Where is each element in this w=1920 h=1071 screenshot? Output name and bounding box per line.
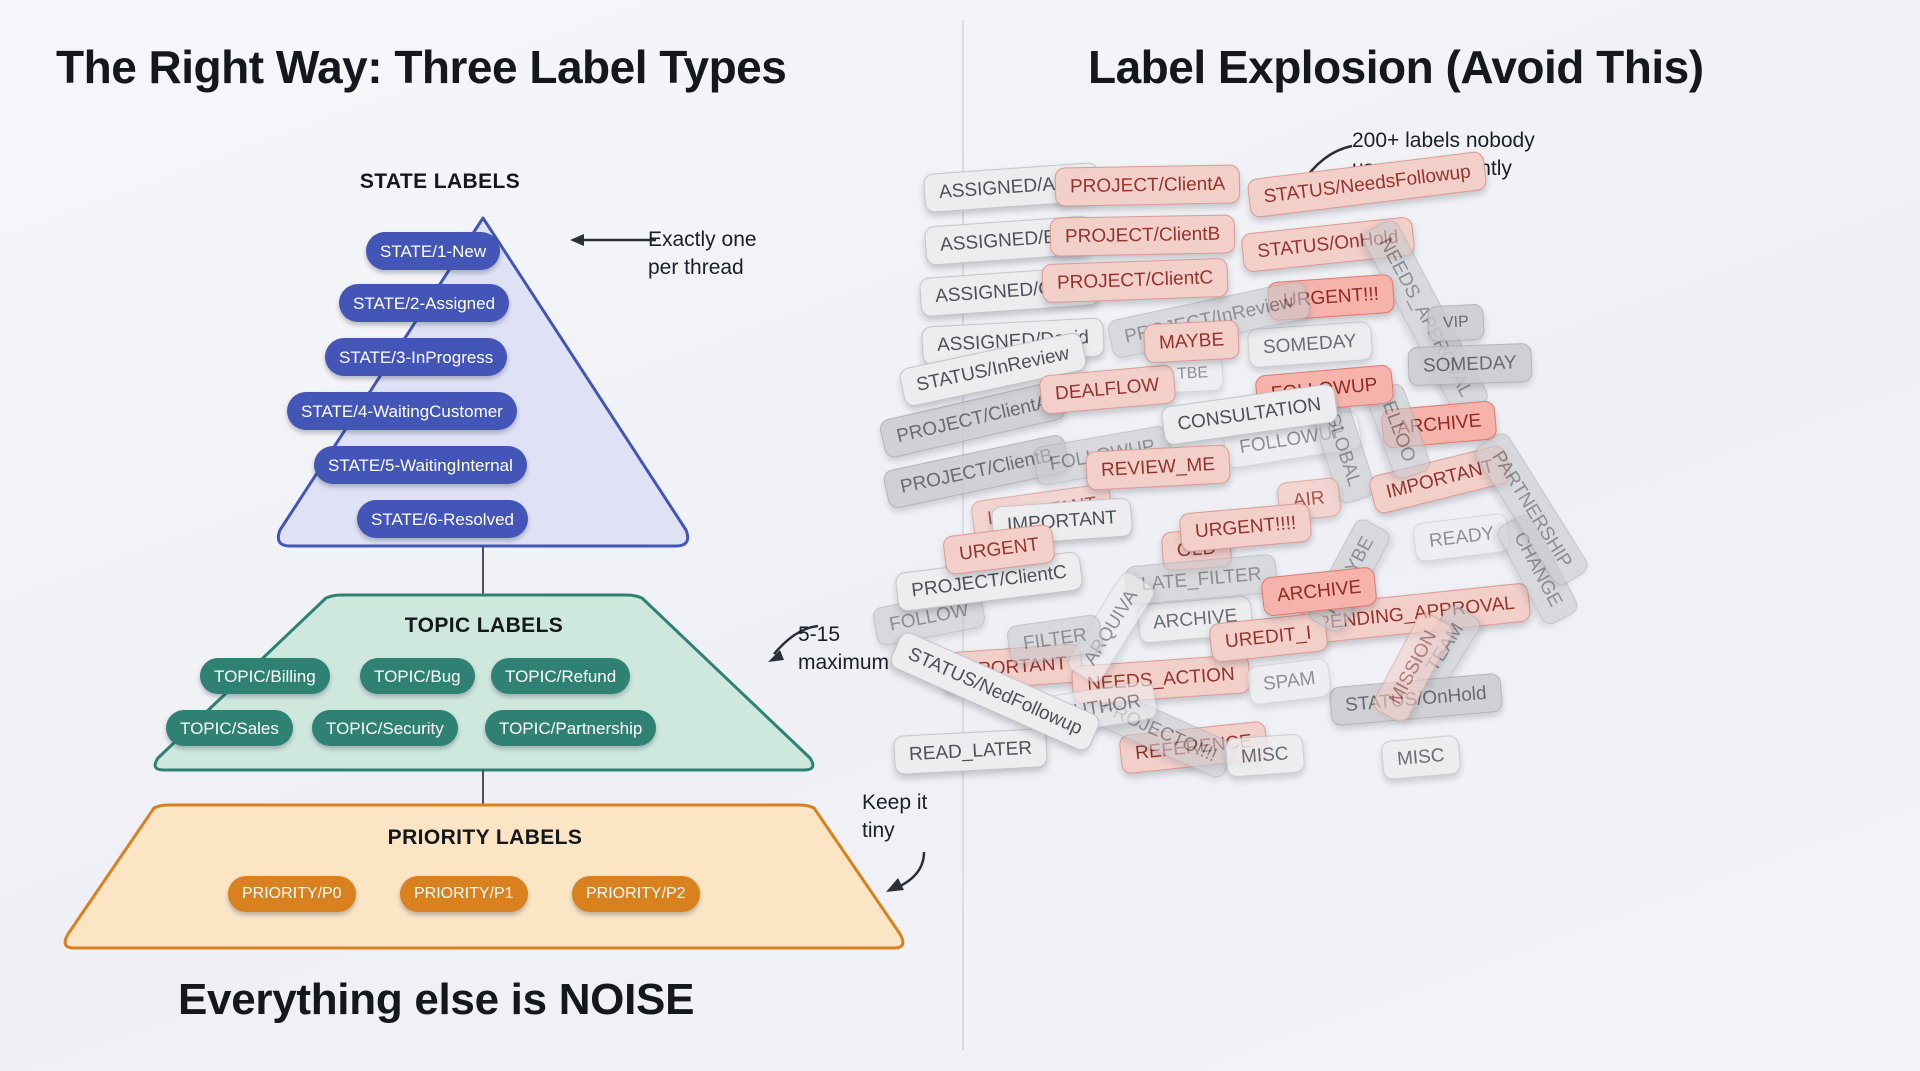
topic-pill-bug[interactable]: TOPIC/Bug: [360, 658, 475, 694]
priority-pill-p2[interactable]: PRIORITY/P2: [572, 876, 700, 912]
chaos-label[interactable]: PROJECT/ClientB: [1050, 214, 1236, 256]
chaos-label[interactable]: STATUS/NeedsFollowup: [1247, 151, 1488, 219]
state-labels-caption: STATE LABELS: [310, 170, 570, 194]
left-panel-footer: Everything else is NOISE: [178, 975, 694, 1025]
chaos-label[interactable]: VIP: [1427, 304, 1485, 343]
left-panel-title: The Right Way: Three Label Types: [56, 40, 786, 94]
priority-annotation-line1: Keep it: [862, 790, 927, 816]
priority-annotation-arrow: [874, 848, 934, 896]
state-annotation-arrow: [568, 228, 658, 252]
state-annotation-line1: Exactly one: [648, 227, 757, 253]
topic-labels-caption: TOPIC LABELS: [364, 614, 604, 638]
chaos-label[interactable]: SPAM: [1246, 657, 1333, 706]
topic-annotation-line2: maximum: [798, 650, 889, 676]
priority-pill-p1[interactable]: PRIORITY/P1: [400, 876, 528, 912]
label-explosion-cluster: ASSIGNED/AliceASSIGNED/BobASSIGNED/Carol…: [962, 0, 1920, 1071]
left-panel: The Right Way: Three Label Types STATE L…: [0, 0, 962, 1071]
chaos-label[interactable]: URGENT!!!!: [1179, 502, 1313, 552]
state-pill-4[interactable]: STATE/4-WaitingCustomer: [287, 392, 517, 430]
state-tier: STATE/1-New STATE/2-Assigned STATE/3-InP…: [262, 212, 704, 552]
state-pill-2[interactable]: STATE/2-Assigned: [339, 284, 509, 322]
priority-pill-p0[interactable]: PRIORITY/P0: [228, 876, 356, 912]
topic-pill-refund[interactable]: TOPIC/Refund: [491, 658, 630, 694]
chaos-label[interactable]: REVIEW_ME: [1085, 444, 1231, 490]
chaos-label[interactable]: SOMEDAY: [1247, 321, 1373, 369]
chaos-label[interactable]: PROJECT/ClientC: [1041, 258, 1228, 303]
chaos-label[interactable]: MAYBE: [1143, 320, 1240, 364]
chaos-label[interactable]: PROJECT/ClientA: [1055, 164, 1241, 206]
topic-pill-security[interactable]: TOPIC/Security: [312, 710, 458, 746]
topic-pill-partnership[interactable]: TOPIC/Partnership: [485, 710, 656, 746]
state-pill-6[interactable]: STATE/6-Resolved: [357, 500, 528, 538]
priority-labels-caption: PRIORITY LABELS: [365, 826, 605, 850]
priority-tier: PRIORITY LABELS PRIORITY/P0 PRIORITY/P1 …: [60, 802, 908, 954]
priority-annotation-line2: tiny: [862, 818, 895, 844]
chaos-label[interactable]: READ_LATER: [893, 728, 1048, 775]
state-pill-3[interactable]: STATE/3-InProgress: [325, 338, 507, 376]
diagram-canvas: The Right Way: Three Label Types STATE L…: [0, 0, 1920, 1071]
topic-annotation-line1: 5-15: [798, 622, 840, 648]
chaos-label[interactable]: READY: [1412, 512, 1512, 562]
topic-tier: TOPIC LABELS TOPIC/Billing TOPIC/Bug TOP…: [150, 592, 818, 776]
state-pill-1[interactable]: STATE/1-New: [366, 232, 500, 270]
state-pill-5[interactable]: STATE/5-WaitingInternal: [314, 446, 527, 484]
right-panel: Label Explosion (Avoid This) 200+ labels…: [962, 0, 1920, 1071]
chaos-label[interactable]: SOMEDAY: [1407, 343, 1532, 386]
state-annotation-line2: per thread: [648, 255, 744, 281]
topic-pill-sales[interactable]: TOPIC/Sales: [166, 710, 293, 746]
topic-pill-billing[interactable]: TOPIC/Billing: [200, 658, 330, 694]
chaos-label[interactable]: MISC: [1380, 735, 1461, 781]
connector-state-topic: [482, 546, 484, 594]
chaos-label[interactable]: MISC: [1225, 733, 1305, 777]
